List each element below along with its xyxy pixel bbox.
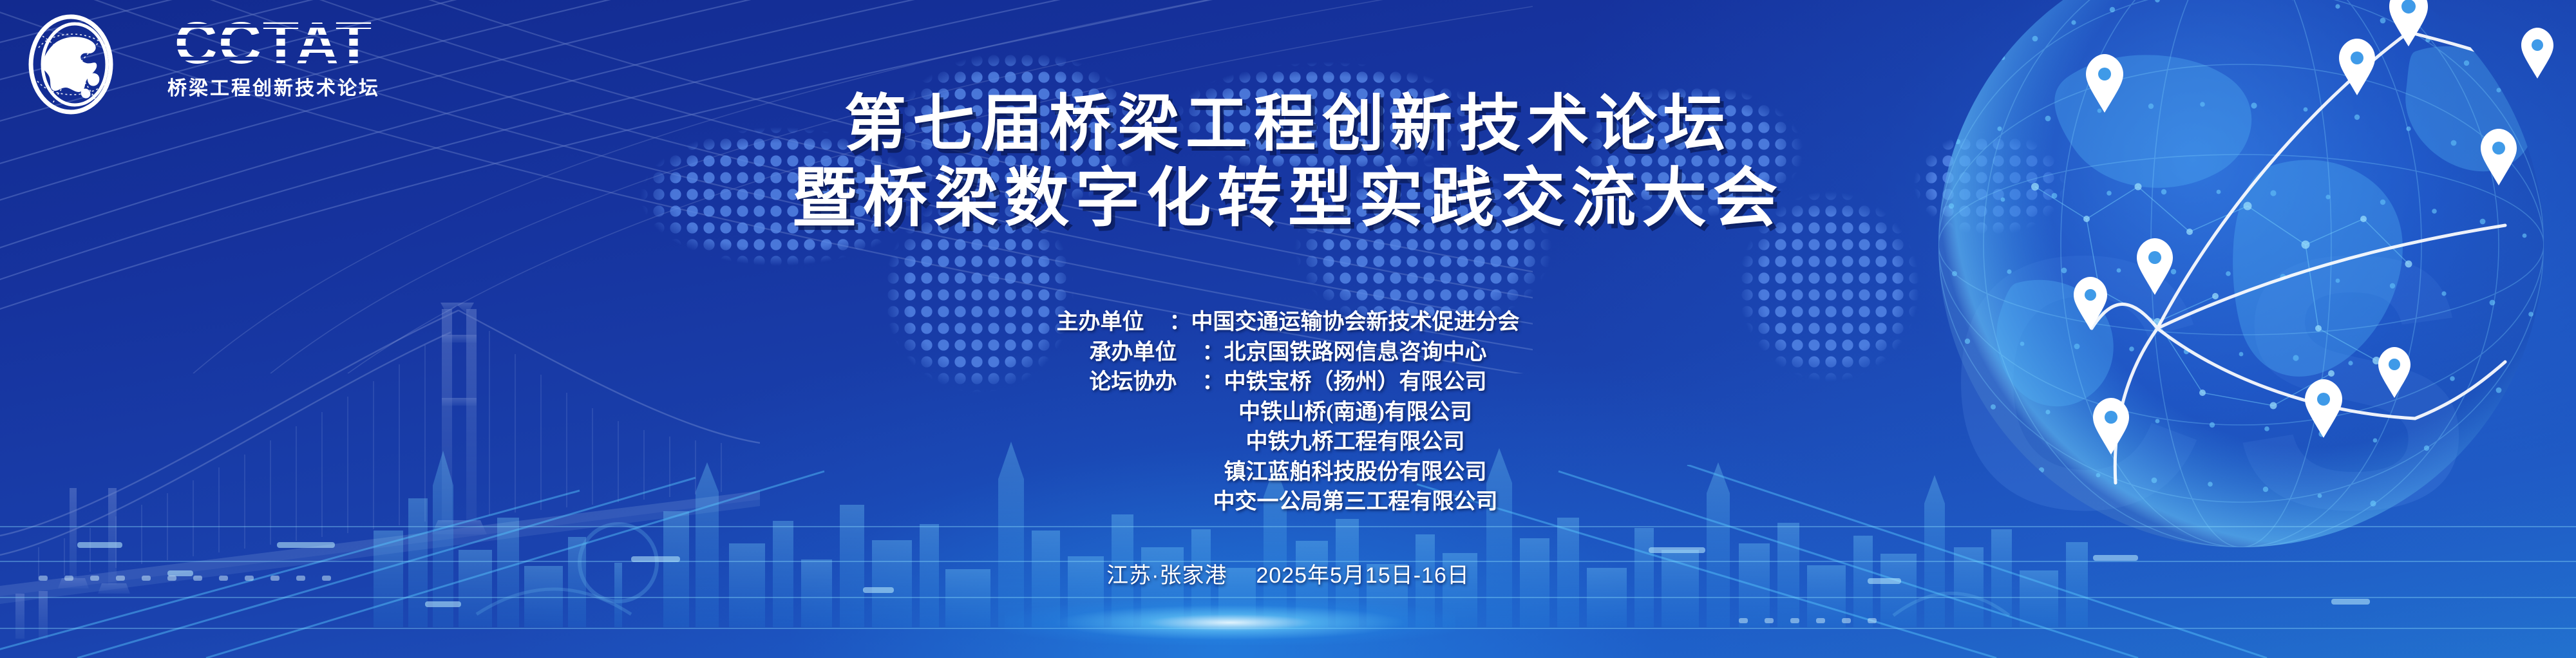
conference-banner: CS [0,0,2576,658]
organizer-value: 中铁宝桥（扬州）有限公司 [1224,368,1487,398]
organizer-value: 镇江蓝舶科技股份有限公司 [1224,458,1487,488]
organizer-separator: ： [1170,308,1191,338]
svg-text:CCTAT: CCTAT [175,15,373,71]
organizer-label: 承办单位 [1090,338,1202,368]
organizer-value: 中铁九桥工程有限公司 [1246,428,1465,458]
organizer-value: 中铁山桥(南通)有限公司 [1238,398,1472,428]
venue-date-line: 江苏·张家港 2025年5月15日-16日 [0,558,2576,589]
organizer-separator: ： [1202,368,1224,398]
center-glow [1005,600,1455,645]
main-title-line-1: 第七届桥梁工程创新技术论坛 [0,90,2576,158]
organizer-label: 主办单位 [1057,308,1170,338]
organizer-row: 论坛协办 ： 中铁九桥工程有限公司 [1112,428,1465,458]
organizer-value: 中交一公局第三工程有限公司 [1213,487,1498,518]
logo-text-block: CCTAT 桥梁工程创新技术论坛 [122,15,425,100]
organizer-value: 北京国铁路网信息咨询中心 [1224,338,1487,368]
organizer-label: 论坛协办 [1090,368,1202,398]
cctat-acronym: CCTAT [122,15,425,71]
organizer-row: 论坛协办 ： 中铁宝桥（扬州）有限公司 [1090,368,1487,398]
organizer-row: 论坛协办 ： 镇江蓝舶科技股份有限公司 [1090,458,1487,488]
organizer-list: 主办单位 ： 中国交通运输协会新技术促进分会 承办单位 ： 北京国铁路网信息咨询… [0,308,2576,518]
organizer-row: 论坛协办 ： 中铁山桥(南通)有限公司 [1104,398,1472,428]
title-block: 第七届桥梁工程创新技术论坛 暨桥梁数字化转型实践交流大会 [0,90,2576,237]
organizer-separator: ： [1202,338,1224,368]
main-title-line-2: 暨桥梁数字化转型实践交流大会 [0,161,2576,237]
date-text: 2025年5月15日-16日 [1256,563,1470,588]
organizer-row: 论坛协办 ： 中交一公局第三工程有限公司 [1079,487,1498,518]
organizer-row: 主办单位 ： 中国交通运输协会新技术促进分会 [1057,308,1520,338]
organizer-row: 承办单位 ： 北京国铁路网信息咨询中心 [1090,338,1487,368]
organizer-value: 中国交通运输协会新技术促进分会 [1191,308,1520,338]
venue-text: 江苏·张家港 [1106,563,1227,588]
